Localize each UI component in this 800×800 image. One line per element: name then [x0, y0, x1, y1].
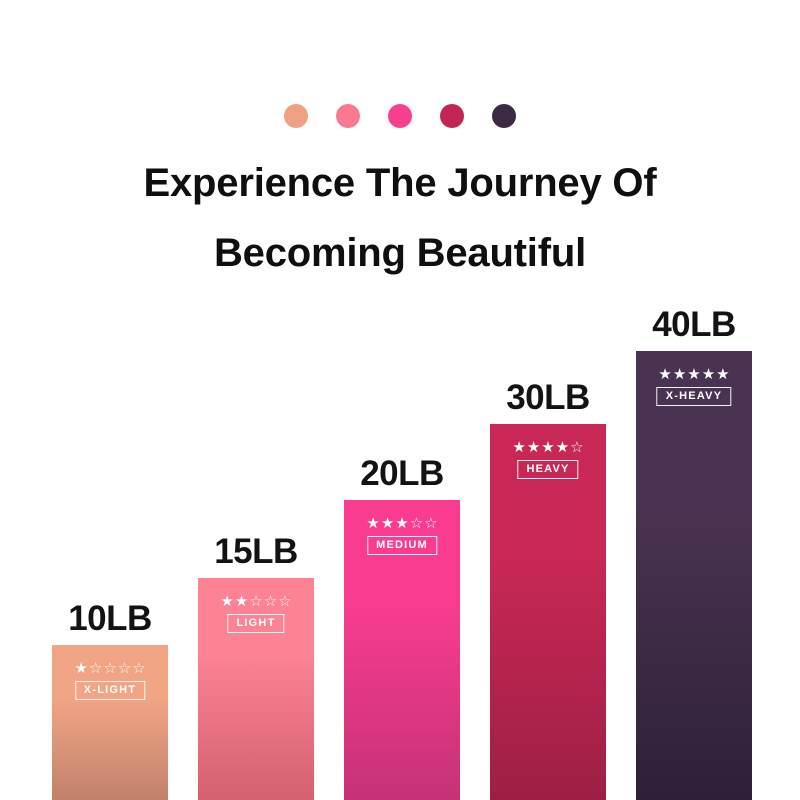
bar-fill-20lb: ★★★☆☆MEDIUM: [344, 500, 460, 800]
star-empty-icon: ☆: [118, 661, 131, 676]
star-filled-icon: ★: [716, 367, 729, 382]
bar-badge-40lb: ★★★★★X-HEAVY: [645, 367, 742, 406]
star-filled-icon: ★: [556, 440, 569, 455]
tier-badge-label: X-LIGHT: [75, 681, 145, 700]
bar-badge-15lb: ★★☆☆☆LIGHT: [207, 594, 304, 633]
star-rating: ★★★★☆: [512, 440, 583, 455]
bar-badge-10lb: ★☆☆☆☆X-LIGHT: [61, 661, 158, 700]
star-filled-icon: ★: [366, 516, 379, 531]
tier-badge-label: MEDIUM: [367, 536, 437, 555]
star-filled-icon: ★: [512, 440, 525, 455]
star-empty-icon: ☆: [249, 594, 262, 609]
bar-badge-20lb: ★★★☆☆MEDIUM: [353, 516, 450, 555]
bar-group-30lb[interactable]: ★★★★☆HEAVY30LB: [490, 424, 606, 800]
star-rating: ★★☆☆☆: [220, 594, 291, 609]
bar-fill-30lb: ★★★★☆HEAVY: [490, 424, 606, 800]
bar-group-40lb[interactable]: ★★★★★X-HEAVY40LB: [636, 351, 752, 800]
bar-weight-label-20lb: 20LB: [360, 454, 444, 494]
star-filled-icon: ★: [541, 440, 554, 455]
star-filled-icon: ★: [235, 594, 248, 609]
star-empty-icon: ☆: [103, 661, 116, 676]
bar-weight-label-10lb: 10LB: [68, 599, 152, 639]
star-empty-icon: ☆: [278, 594, 291, 609]
star-filled-icon: ★: [687, 367, 700, 382]
bar-weight-label-40lb: 40LB: [652, 305, 736, 345]
star-empty-icon: ☆: [264, 594, 277, 609]
bar-badge-30lb: ★★★★☆HEAVY: [499, 440, 596, 479]
star-filled-icon: ★: [673, 367, 686, 382]
star-empty-icon: ☆: [424, 516, 437, 531]
star-empty-icon: ☆: [410, 516, 423, 531]
tier-badge-label: HEAVY: [517, 460, 578, 479]
star-filled-icon: ★: [527, 440, 540, 455]
bar-group-15lb[interactable]: ★★☆☆☆LIGHT15LB: [198, 578, 314, 800]
star-rating: ★☆☆☆☆: [74, 661, 145, 676]
tier-badge-label: X-HEAVY: [657, 387, 731, 406]
star-empty-icon: ☆: [132, 661, 145, 676]
star-filled-icon: ★: [702, 367, 715, 382]
star-empty-icon: ☆: [570, 440, 583, 455]
bar-fill-40lb: ★★★★★X-HEAVY: [636, 351, 752, 800]
bar-weight-label-15lb: 15LB: [214, 532, 298, 572]
star-empty-icon: ☆: [89, 661, 102, 676]
bar-group-20lb[interactable]: ★★★☆☆MEDIUM20LB: [344, 500, 460, 800]
bar-fill-15lb: ★★☆☆☆LIGHT: [198, 578, 314, 800]
resistance-bar-chart: ★☆☆☆☆X-LIGHT10LB★★☆☆☆LIGHT15LB★★★☆☆MEDIU…: [0, 0, 800, 800]
bar-weight-label-30lb: 30LB: [506, 378, 590, 418]
star-rating: ★★★★★: [658, 367, 729, 382]
star-filled-icon: ★: [395, 516, 408, 531]
star-filled-icon: ★: [658, 367, 671, 382]
bar-fill-10lb: ★☆☆☆☆X-LIGHT: [52, 645, 168, 800]
star-filled-icon: ★: [74, 661, 87, 676]
tier-badge-label: LIGHT: [228, 614, 285, 633]
infographic-canvas: Experience The Journey Of Becoming Beaut…: [0, 0, 800, 800]
bar-group-10lb[interactable]: ★☆☆☆☆X-LIGHT10LB: [52, 645, 168, 800]
star-rating: ★★★☆☆: [366, 516, 437, 531]
star-filled-icon: ★: [381, 516, 394, 531]
star-filled-icon: ★: [220, 594, 233, 609]
